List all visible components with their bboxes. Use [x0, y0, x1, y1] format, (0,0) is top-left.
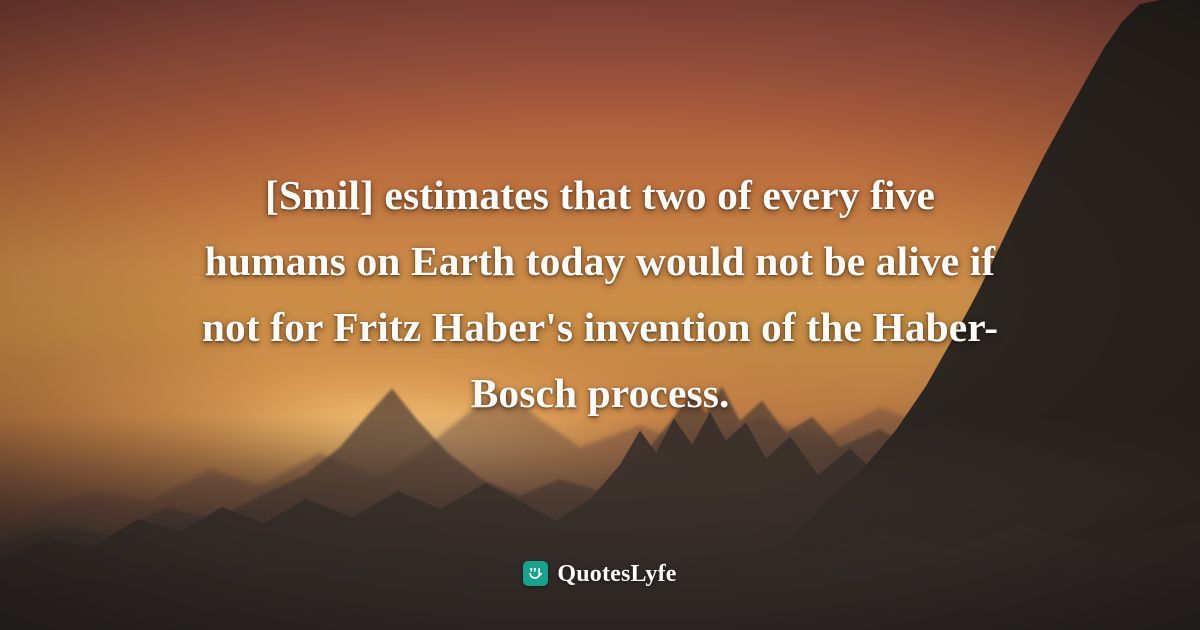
quote-line: Bosch process.	[140, 360, 1060, 426]
quote-line: [Smil] estimates that two of every five	[140, 162, 1060, 228]
brand-logo[interactable]: QuotesLyfe	[0, 561, 1200, 586]
brand-name: QuotesLyfe	[557, 562, 676, 586]
quotes-smiley-icon	[523, 561, 548, 586]
quote-content: [Smil] estimates that two of every five …	[0, 0, 1200, 630]
quote-text: [Smil] estimates that two of every five …	[140, 162, 1060, 426]
quote-line: humans on Earth today would not be alive…	[140, 228, 1060, 294]
quote-line: not for Fritz Haber's invention of the H…	[140, 294, 1060, 360]
quote-card: [Smil] estimates that two of every five …	[0, 0, 1200, 630]
